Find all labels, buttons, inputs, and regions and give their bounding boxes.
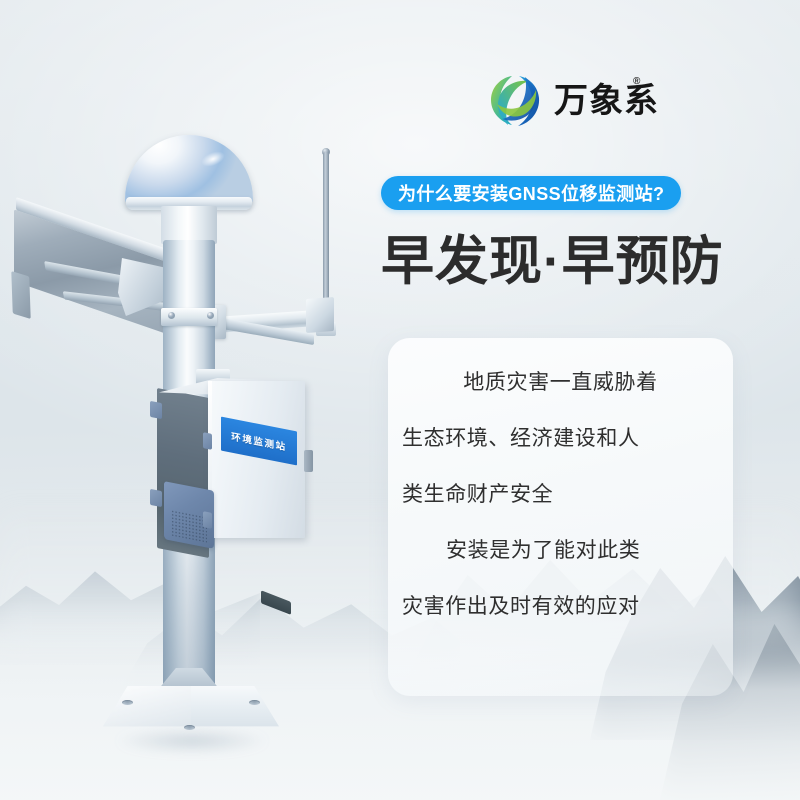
description-line: 类生命财产安全 — [402, 484, 719, 505]
enclosure-latch — [203, 432, 212, 450]
gnss-dome-antenna — [125, 135, 253, 205]
question-badge-label: 为什么要安装GNSS位移监测站? — [398, 180, 664, 206]
base-bolt-hole — [249, 700, 260, 705]
solar-panel-left-edge — [11, 271, 30, 319]
description-line: 安装是为了能对此类 — [402, 540, 719, 561]
cross-arm-end-bracket — [306, 297, 334, 333]
base-bolt-hole — [184, 725, 195, 730]
dome-neck — [161, 206, 217, 244]
enclosure-latch — [150, 489, 162, 507]
base-bolt-hole — [122, 700, 133, 705]
description-line: 地质灾害一直威胁着 — [402, 372, 719, 393]
gnss-monitoring-station-illustration: 环境监测站 — [0, 0, 400, 800]
brand-name: 万象系 — [554, 84, 659, 118]
poster-stage: 环境监测站 — [0, 0, 800, 800]
clamp-bolt — [207, 312, 214, 319]
enclosure-latch — [203, 511, 212, 529]
brand-logo: 万象系 — [488, 72, 668, 130]
registered-trademark-icon: ® — [633, 76, 640, 87]
description-line: 灾害作出及时有效的应对 — [402, 596, 719, 617]
globe-swirl-icon — [488, 73, 544, 129]
page-title: 早发现·早预防 — [381, 232, 724, 291]
enclosure-vent-slot — [261, 590, 291, 615]
enclosure-nameplate-text: 环境监测站 — [231, 429, 287, 454]
enclosure-door-handle — [304, 450, 313, 472]
question-badge: 为什么要安装GNSS位移监测站? — [381, 176, 681, 210]
description-panel: 地质灾害一直威胁着 生态环境、经济建设和人 类生命财产安全 安装是为了能对此类 … — [388, 338, 733, 696]
clamp-bolt — [168, 312, 175, 319]
enclosure-latch — [150, 401, 162, 419]
description-panel-body: 地质灾害一直威胁着 生态环境、经济建设和人 类生命财产安全 安装是为了能对此类 … — [388, 372, 733, 652]
description-line: 生态环境、经济建设和人 — [402, 428, 719, 449]
